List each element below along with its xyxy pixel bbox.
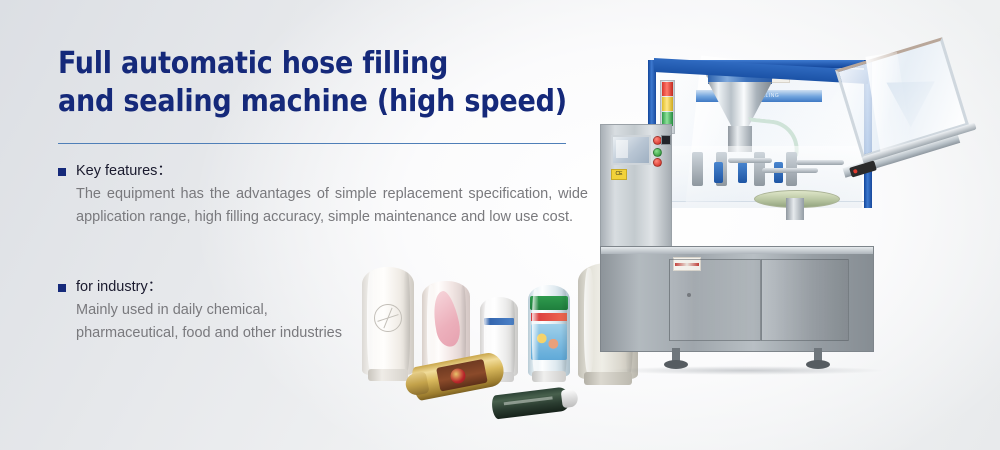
machine-photo: HOSE FILLING (600, 28, 1000, 423)
leveling-foot (814, 348, 822, 364)
ce-label-text: CE (612, 170, 626, 179)
machine-shadow (606, 366, 886, 375)
machine-base-cabinet (600, 246, 874, 352)
start-button (653, 148, 662, 157)
title-divider (58, 143, 566, 144)
stack-light-yellow (662, 97, 673, 111)
door-lock-icon (687, 293, 691, 297)
page-title: Full automatic hose filling and sealing … (58, 45, 618, 121)
product-tubes-group (350, 255, 590, 425)
leveling-foot (672, 348, 680, 364)
for-industry-section: for industry： Mainly used in daily chemi… (58, 278, 358, 345)
cabinet-door-left (669, 259, 761, 341)
section-heading: for industry： (76, 278, 162, 296)
cabinet-door-right (761, 259, 849, 341)
dark-green-tube (491, 386, 571, 419)
control-cabinet: CE (600, 124, 672, 252)
sunplay-tube (528, 285, 570, 377)
bullet-row: Key features： (58, 162, 588, 180)
section-heading: Key features： (76, 162, 172, 180)
ce-warning-label: CE (611, 169, 627, 180)
tube-cap (561, 388, 579, 408)
emergency-stop-button (653, 158, 662, 167)
square-bullet-icon (58, 284, 66, 292)
hmi-touchscreen (611, 135, 651, 165)
white-cream-tube (362, 267, 414, 375)
section-body: Mainly used in daily chemical, pharmaceu… (76, 299, 358, 345)
key-features-section: Key features： The equipment has the adva… (58, 162, 588, 229)
tube-cap (368, 369, 408, 381)
bullet-row: for industry： (58, 278, 358, 296)
product-banner: Full automatic hose filling and sealing … (0, 0, 1000, 450)
square-bullet-icon (58, 168, 66, 176)
power-switch (661, 135, 671, 145)
tube-cap (532, 371, 566, 382)
stack-light-red (662, 82, 673, 96)
section-body: The equipment has the advantages of simp… (76, 183, 588, 229)
